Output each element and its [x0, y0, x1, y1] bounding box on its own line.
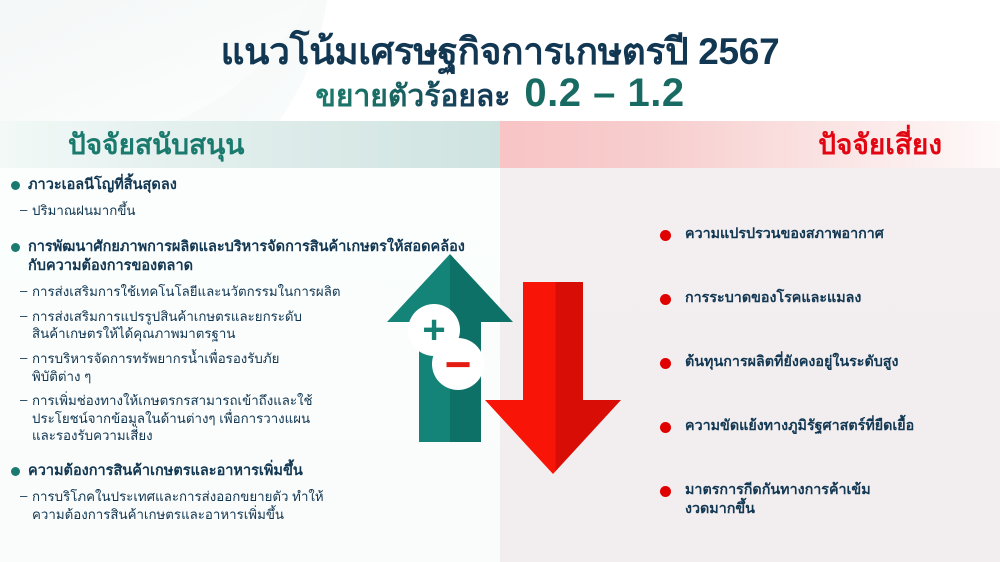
arrow-graphic-group: + −: [380, 252, 630, 477]
risk-item: การระบาดของโรคและแมลง: [660, 289, 990, 308]
infographic-canvas: แนวโน้มเศรษฐกิจการเกษตรปี 2567 ขยายตัวร้…: [0, 0, 1000, 562]
growth-label: ขยายตัวร้อยละ: [315, 73, 510, 120]
support-sub-item-text: การเพิ่มช่องทางให้เกษตรกรสามารถเข้าถึงแล…: [32, 393, 313, 443]
bullet-dot-icon: [660, 422, 671, 433]
dash-icon: –: [20, 349, 27, 367]
bullet-dot-icon: [11, 243, 20, 252]
title-subtitle-row: ขยายตัวร้อยละ 0.2 – 1.2: [0, 71, 1000, 120]
bullet-dot-icon: [660, 294, 671, 305]
support-sub-item: – การส่งเสริมการใช้เทคโนโลยีและนวัตกรรมใ…: [0, 283, 430, 301]
down-arrow-icon: [483, 280, 623, 476]
support-sub-item: – การบริหารจัดการทรัพยากรน้ำเพื่อรองรับภ…: [0, 350, 290, 385]
dash-icon: –: [20, 307, 27, 325]
minus-badge: −: [432, 338, 484, 390]
support-group: ภาวะเอลนีโญที่สิ้นสุดลง – ปริมาณฝนมากขึ้…: [0, 176, 496, 220]
risk-item: มาตรการกีดกันทางการค้าเข้มงวดมากขึ้น: [660, 481, 890, 519]
risk-item: ความขัดแย้งทางภูมิรัฐศาสตร์ที่ยืดเยื้อ: [660, 417, 990, 436]
bullet-dot-icon: [11, 467, 20, 476]
support-sub-item-text: การส่งเสริมการใช้เทคโนโลยีและนวัตกรรมในก…: [32, 284, 341, 299]
support-heading-text: ความต้องการสินค้าเกษตรและอาหารเพิ่มขึ้น: [28, 463, 303, 479]
dash-icon: –: [20, 487, 27, 505]
risk-item-text: ความแปรปรวนของสภาพอากาศ: [685, 226, 884, 242]
risk-item-text: ต้นทุนการผลิตที่ยังคงอยู่ในระดับสูง: [685, 354, 899, 370]
support-sub-item: – การเพิ่มช่องทางให้เกษตรกรสามารถเข้าถึง…: [0, 392, 330, 445]
dash-icon: –: [20, 391, 27, 409]
dash-icon: –: [20, 282, 27, 300]
risk-column-header: ปัจจัยเสี่ยง: [818, 121, 942, 168]
support-sub-item: – ปริมาณฝนมากขึ้น: [0, 202, 496, 220]
bullet-dot-icon: [660, 230, 671, 241]
support-sub-item-text: การส่งเสริมการแปรรูปสินค้าเกษตรและยกระดั…: [32, 309, 302, 342]
support-column-header: ปัจจัยสนับสนุน: [68, 121, 244, 168]
risk-factor-list: ความแปรปรวนของสภาพอากาศ การระบาดของโรคแล…: [660, 225, 990, 562]
support-sub-item-text: ปริมาณฝนมากขึ้น: [32, 203, 136, 218]
risk-item: ต้นทุนการผลิตที่ยังคงอยู่ในระดับสูง: [660, 353, 990, 372]
support-sub-item-text: การบริหารจัดการทรัพยากรน้ำเพื่อรองรับภัย…: [32, 351, 279, 384]
risk-item-text: การระบาดของโรคและแมลง: [685, 290, 861, 306]
support-sub-item: – การบริโภคในประเทศและการส่งออกขยายตัว ท…: [0, 488, 345, 523]
growth-range-value: 0.2 – 1.2: [524, 71, 684, 116]
risk-item: ความแปรปรวนของสภาพอากาศ: [660, 225, 990, 244]
bullet-dot-icon: [11, 181, 20, 190]
risk-item-text: มาตรการกีดกันทางการค้าเข้มงวดมากขึ้น: [685, 482, 871, 517]
support-sub-item: – การส่งเสริมการแปรรูปสินค้าเกษตรและยกระ…: [0, 308, 330, 343]
support-heading: ภาวะเอลนีโญที่สิ้นสุดลง: [0, 176, 496, 195]
dash-icon: –: [20, 201, 27, 219]
bullet-dot-icon: [660, 358, 671, 369]
bullet-dot-icon: [660, 486, 671, 497]
risk-item-text: ความขัดแย้งทางภูมิรัฐศาสตร์ที่ยืดเยื้อ: [685, 418, 914, 434]
support-sub-item-text: การบริโภคในประเทศและการส่งออกขยายตัว ทำใ…: [32, 489, 324, 522]
support-heading-text: ภาวะเอลนีโญที่สิ้นสุดลง: [28, 177, 177, 193]
